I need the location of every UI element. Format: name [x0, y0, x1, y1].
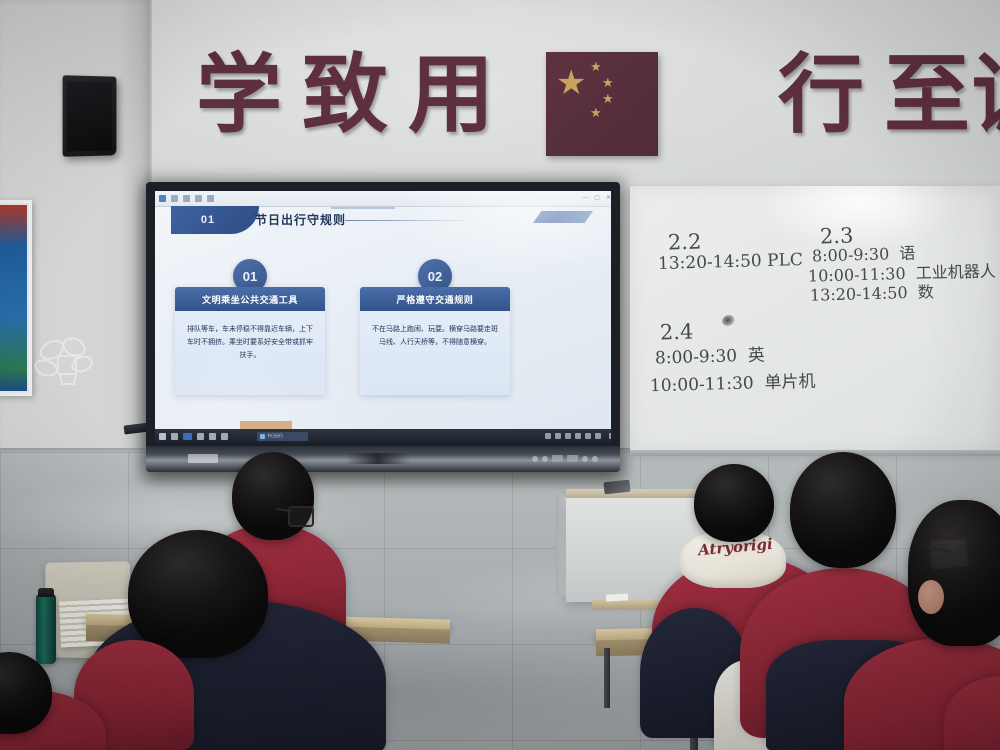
slide-card-2: 严格遵守交通规则 不在马路上跑闹、玩耍。横穿马路要走斑马线、人行天桥等，不得随意…	[360, 287, 510, 395]
desk-leg-right-2	[604, 648, 610, 708]
print-icon[interactable]	[195, 195, 202, 202]
wall-char-3: 用	[408, 52, 494, 138]
sensor-icon	[542, 456, 548, 462]
network-icon[interactable]	[555, 433, 561, 439]
student-back-left-glasses-icon	[288, 506, 314, 527]
wall-char-1: 学	[196, 52, 282, 138]
flag-star-small-2: ★	[602, 76, 614, 89]
wall-char-6: 诚	[972, 52, 1000, 138]
undo-icon[interactable]	[171, 195, 178, 202]
slide-section-badge: 01	[171, 206, 259, 234]
wall-decal-flower-icon	[30, 330, 104, 392]
slide-top-rule	[331, 207, 395, 209]
settings-icon[interactable]	[209, 433, 216, 440]
presentation-slide: — ▢ ✕ 01 节日出行守规则 01 02 文明乘坐公共交通工具 排队等	[155, 191, 611, 443]
taskbar-active-window[interactable]: 节日出行	[257, 432, 308, 441]
display-icon[interactable]	[585, 433, 591, 439]
smartboard-brand-logo	[346, 453, 410, 464]
wb-note-line-2-3: 13:20-14:50 数	[810, 281, 934, 307]
student-hoodie-head	[694, 464, 774, 542]
smartboard-bezel	[146, 446, 620, 472]
redo-icon[interactable]	[183, 195, 190, 202]
student-left-middle-head	[128, 530, 268, 658]
battery-icon[interactable]	[595, 433, 601, 439]
smartboard-screen[interactable]: — ▢ ✕ 01 节日出行守规则 01 02 文明乘坐公共交通工具 排队等	[155, 191, 611, 443]
slide-card-body-2: 不在马路上跑闹、玩耍。横穿马路要走斑马线、人行天桥等，不得随意横穿。	[360, 311, 510, 395]
bezel-ports	[502, 453, 598, 464]
taskbar-highlight-strip	[240, 421, 292, 429]
student-foreground-right-head	[908, 500, 1000, 646]
student-foreground-right-glasses-icon	[929, 537, 969, 570]
smartboard[interactable]: — ▢ ✕ 01 节日出行守规则 01 02 文明乘坐公共交通工具 排队等	[146, 182, 620, 472]
audio-port-icon[interactable]	[582, 456, 588, 462]
wall-char-5: 至	[884, 52, 970, 138]
wb-note-line-3-1: 8:00-9:30 英	[655, 343, 766, 370]
taskbar-window-label: 节日出行	[267, 433, 283, 439]
app-icon-extra[interactable]	[221, 433, 228, 440]
student-center-right-head	[790, 452, 896, 568]
app-toolbar[interactable]: — ▢ ✕	[155, 191, 611, 207]
podium-paper	[606, 593, 628, 601]
close-icon[interactable]: ✕	[606, 195, 611, 201]
browser-icon[interactable]	[197, 433, 204, 440]
wall-speaker	[63, 75, 117, 157]
wb-note-date-3: 2.4	[660, 318, 694, 349]
slide-title: 节日出行守规则	[255, 211, 346, 228]
notifications-icon[interactable]	[609, 433, 611, 439]
water-bottle	[36, 594, 56, 664]
water-bottle-cap	[38, 588, 54, 597]
flag-star-small-1: ★	[590, 60, 602, 73]
power-led-icon	[532, 456, 538, 462]
slide-card-heading-1: 文明乘坐公共交通工具	[175, 287, 325, 311]
task-view-icon[interactable]	[171, 433, 178, 440]
whiteboard-marker-tray	[630, 450, 1000, 456]
document-icon	[260, 434, 265, 439]
flag-star-small-3: ★	[602, 92, 614, 105]
slide-card-heading-2: 严格遵守交通规则	[360, 287, 510, 311]
start-icon[interactable]	[159, 433, 166, 440]
pen-icon[interactable]	[565, 433, 571, 439]
hdmi-port-icon[interactable]	[567, 455, 578, 462]
classroom-photo: 学 致 用 ★ ★ ★ ★ ★ 行 至 诚	[0, 0, 1000, 750]
poster-artwork	[0, 205, 27, 391]
windows-taskbar[interactable]: 节日出行	[155, 429, 611, 443]
bezel-badge	[188, 454, 218, 463]
folder-icon[interactable]	[183, 433, 192, 440]
flag-star-small-4: ★	[590, 106, 602, 119]
pointer-icon[interactable]	[207, 195, 214, 202]
usb-port-icon[interactable]	[552, 455, 563, 462]
minimize-icon[interactable]: —	[582, 195, 588, 201]
wall-char-4: 行	[778, 52, 864, 138]
wb-note-line-3-2: 10:00-11:30 单片机	[650, 370, 816, 399]
chevron-up-icon[interactable]	[545, 433, 551, 439]
wall-poster-left	[0, 200, 32, 396]
mic-icon	[592, 456, 598, 462]
slide-title-rule	[345, 220, 463, 221]
system-tray[interactable]	[545, 433, 611, 439]
slide-title-accent	[533, 211, 593, 223]
keyboard-icon[interactable]	[575, 433, 581, 439]
china-flag-plaque: ★ ★ ★ ★ ★	[546, 52, 658, 156]
save-icon[interactable]	[159, 195, 166, 202]
slide-card-1: 文明乘坐公共交通工具 排队等车，车未停稳不得靠近车辆，上下车时不拥挤。乘坐时要系…	[175, 287, 325, 395]
student-foreground-right-ear	[918, 580, 944, 614]
wb-note-line-1-1: 13:20-14:50 PLC	[658, 248, 803, 276]
slide-card-body-1: 排队等车，车未停稳不得靠近车辆，上下车时不拥挤。乘坐时要系好安全带或抓牢扶手。	[175, 311, 325, 395]
wall-char-2: 致	[302, 52, 388, 138]
maximize-icon[interactable]: ▢	[594, 195, 600, 201]
flag-star-large: ★	[556, 66, 586, 100]
